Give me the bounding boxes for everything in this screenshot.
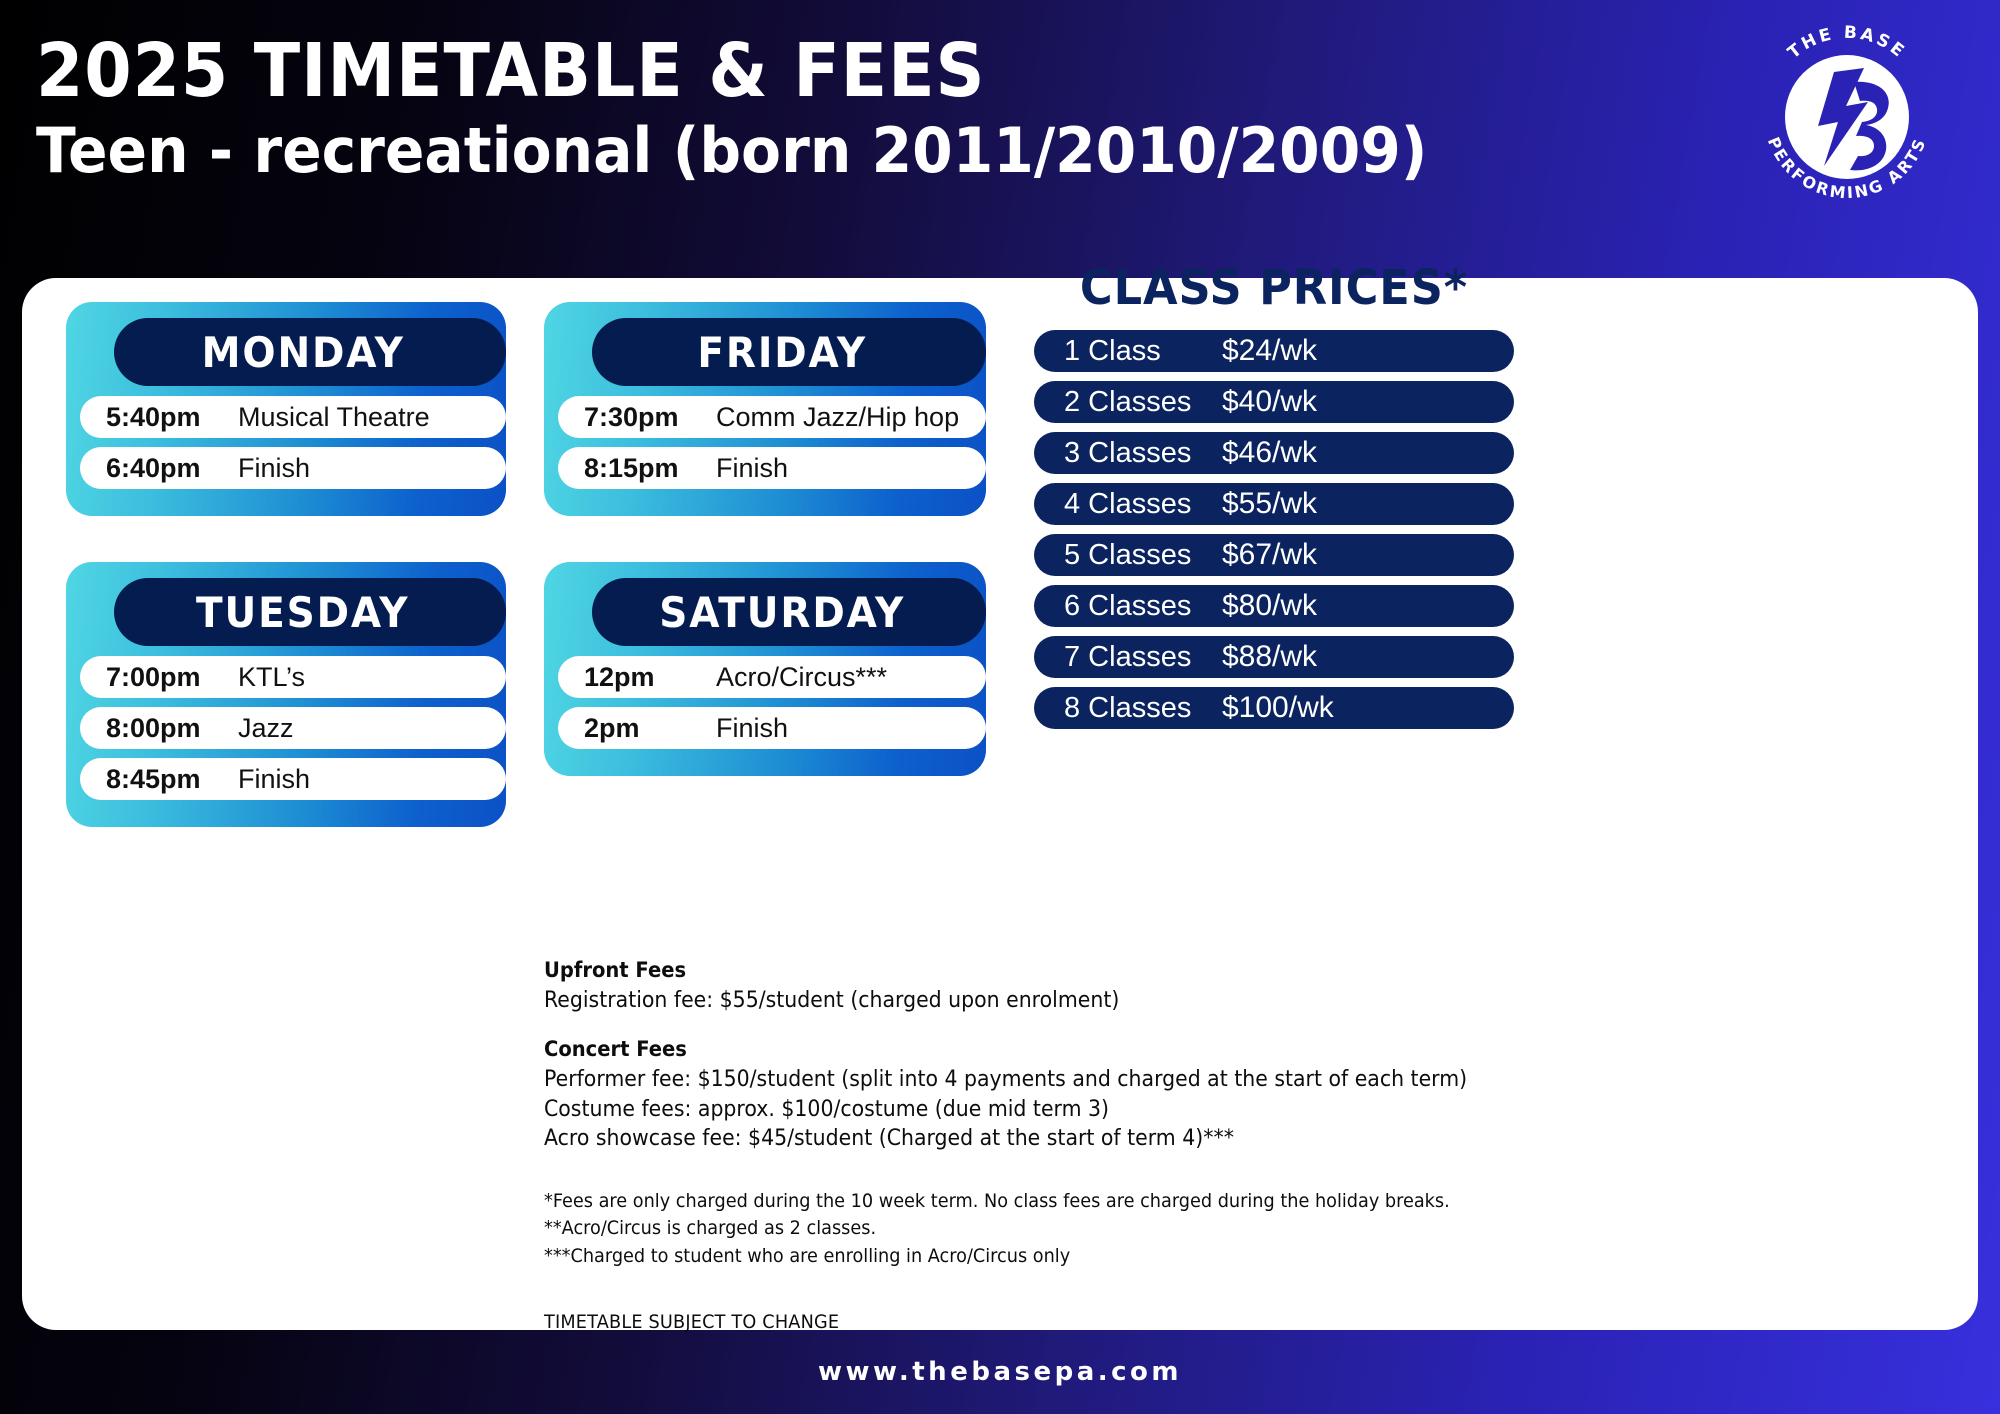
footnote-line: *Fees are only charged during the 10 wee… xyxy=(544,1188,1641,1216)
brand-logo: THE BASE PERFORMING ARTS xyxy=(1742,10,1952,220)
slot-class: Finish xyxy=(238,764,310,795)
day-header-saturday: SATURDAY xyxy=(592,578,986,646)
slot-row: 2pm Finish xyxy=(558,707,986,749)
day-name-label: TUESDAY xyxy=(196,588,409,637)
concert-fees-line: Costume fees: approx. $100/costume (due … xyxy=(544,1095,1641,1124)
concert-fees-heading: Concert Fees xyxy=(544,1037,1641,1061)
price-row: 4 Classes $55/wk xyxy=(1034,483,1514,525)
day-card-saturday: SATURDAY 12pm Acro/Circus*** 2pm Finish xyxy=(544,562,986,776)
page-footer: www.thebasepa.com xyxy=(0,1330,2000,1414)
class-prices-panel: CLASS PRICES* 1 Class $24/wk 2 Classes $… xyxy=(1034,260,1514,738)
price-row: 3 Classes $46/wk xyxy=(1034,432,1514,474)
price-quantity: 7 Classes xyxy=(1064,641,1222,674)
slot-row: 6:40pm Finish xyxy=(80,447,506,489)
slot-row: 8:45pm Finish xyxy=(80,758,506,800)
page-subtitle: Teen - recreational (born 2011/2010/2009… xyxy=(36,115,1427,186)
slot-time: 6:40pm xyxy=(106,453,238,484)
price-row: 2 Classes $40/wk xyxy=(1034,381,1514,423)
slot-time: 5:40pm xyxy=(106,402,238,433)
price-amount: $100/wk xyxy=(1222,691,1334,725)
day-column-right: FRIDAY 7:30pm Comm Jazz/Hip hop 8:15pm F… xyxy=(544,302,986,822)
slot-row: 8:00pm Jazz xyxy=(80,707,506,749)
day-name-label: FRIDAY xyxy=(697,328,867,377)
price-quantity: 8 Classes xyxy=(1064,692,1222,725)
page-title: 2025 TIMETABLE & FEES xyxy=(36,34,1398,109)
day-card-monday: MONDAY 5:40pm Musical Theatre 6:40pm Fin… xyxy=(66,302,506,516)
slot-time: 8:00pm xyxy=(106,713,238,744)
price-row: 1 Class $24/wk xyxy=(1034,330,1514,372)
fees-section: Upfront Fees Registration fee: $55/stude… xyxy=(544,958,1724,1333)
concert-fees-line: Performer fee: $150/student (split into … xyxy=(544,1065,1641,1094)
slot-time: 2pm xyxy=(584,713,716,744)
slot-row: 8:15pm Finish xyxy=(558,447,986,489)
day-card-tuesday: TUESDAY 7:00pm KTL’s 8:00pm Jazz 8:45pm … xyxy=(66,562,506,827)
slot-class: Musical Theatre xyxy=(238,402,430,433)
slot-class: Finish xyxy=(238,453,310,484)
price-quantity: 4 Classes xyxy=(1064,488,1222,521)
upfront-fees-heading: Upfront Fees xyxy=(544,958,1641,982)
slot-time: 8:45pm xyxy=(106,764,238,795)
price-amount: $80/wk xyxy=(1222,589,1317,623)
slot-row: 7:30pm Comm Jazz/Hip hop xyxy=(558,396,986,438)
slot-class: Acro/Circus*** xyxy=(716,662,887,693)
day-header-tuesday: TUESDAY xyxy=(114,578,506,646)
website-url[interactable]: www.thebasepa.com xyxy=(818,1357,1182,1387)
price-amount: $55/wk xyxy=(1222,487,1317,521)
price-quantity: 3 Classes xyxy=(1064,437,1222,470)
slot-time: 7:30pm xyxy=(584,402,716,433)
slot-list-monday: 5:40pm Musical Theatre 6:40pm Finish xyxy=(80,396,492,489)
slot-class: Finish xyxy=(716,713,788,744)
day-card-friday: FRIDAY 7:30pm Comm Jazz/Hip hop 8:15pm F… xyxy=(544,302,986,516)
price-row: 6 Classes $80/wk xyxy=(1034,585,1514,627)
price-amount: $67/wk xyxy=(1222,538,1317,572)
slot-class: Jazz xyxy=(238,713,294,744)
title-block: 2025 TIMETABLE & FEES Teen - recreationa… xyxy=(36,34,1516,187)
slot-class: Comm Jazz/Hip hop xyxy=(716,402,959,433)
concert-fees-line: Acro showcase fee: $45/student (Charged … xyxy=(544,1124,1641,1153)
footnote-line: **Acro/Circus is charged as 2 classes. xyxy=(544,1215,1641,1243)
day-name-label: MONDAY xyxy=(201,328,404,377)
price-amount: $46/wk xyxy=(1222,436,1317,470)
slot-row: 7:00pm KTL’s xyxy=(80,656,506,698)
slot-class: Finish xyxy=(716,453,788,484)
price-row: 7 Classes $88/wk xyxy=(1034,636,1514,678)
day-column-left: MONDAY 5:40pm Musical Theatre 6:40pm Fin… xyxy=(66,302,506,873)
price-quantity: 2 Classes xyxy=(1064,386,1222,419)
day-header-monday: MONDAY xyxy=(114,318,506,386)
page-header: 2025 TIMETABLE & FEES Teen - recreationa… xyxy=(0,0,2000,278)
price-amount: $88/wk xyxy=(1222,640,1317,674)
slot-list-saturday: 12pm Acro/Circus*** 2pm Finish xyxy=(558,656,972,749)
slot-time: 7:00pm xyxy=(106,662,238,693)
footnote-line: ***Charged to student who are enrolling … xyxy=(544,1243,1641,1271)
footnotes: *Fees are only charged during the 10 wee… xyxy=(544,1188,1724,1271)
slot-list-friday: 7:30pm Comm Jazz/Hip hop 8:15pm Finish xyxy=(558,396,972,489)
upfront-fees-line: Registration fee: $55/student (charged u… xyxy=(544,986,1641,1015)
day-name-label: SATURDAY xyxy=(659,588,905,637)
slot-list-tuesday: 7:00pm KTL’s 8:00pm Jazz 8:45pm Finish xyxy=(80,656,492,800)
day-header-friday: FRIDAY xyxy=(592,318,986,386)
slot-row: 5:40pm Musical Theatre xyxy=(80,396,506,438)
price-amount: $24/wk xyxy=(1222,334,1317,368)
slot-time: 12pm xyxy=(584,662,716,693)
class-prices-title: CLASS PRICES* xyxy=(1051,260,1497,316)
price-row: 5 Classes $67/wk xyxy=(1034,534,1514,576)
price-amount: $40/wk xyxy=(1222,385,1317,419)
price-row: 8 Classes $100/wk xyxy=(1034,687,1514,729)
fees-spacer xyxy=(544,1015,1724,1037)
slot-class: KTL’s xyxy=(238,662,305,693)
content-sheet: MONDAY 5:40pm Musical Theatre 6:40pm Fin… xyxy=(22,278,1978,1330)
price-quantity: 1 Class xyxy=(1064,335,1222,368)
price-quantity: 5 Classes xyxy=(1064,539,1222,572)
slot-row: 12pm Acro/Circus*** xyxy=(558,656,986,698)
slot-time: 8:15pm xyxy=(584,453,716,484)
price-quantity: 6 Classes xyxy=(1064,590,1222,623)
